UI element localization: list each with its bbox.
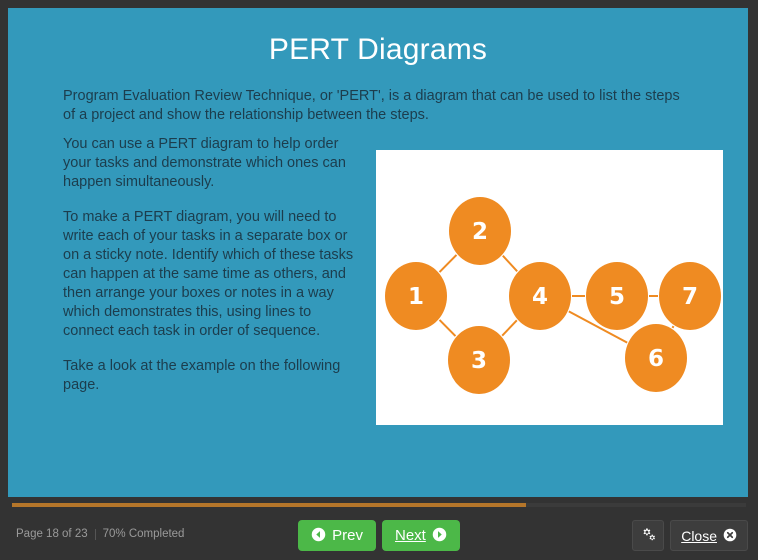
player-controls: Close [632, 520, 748, 551]
progress-bar-fill [12, 503, 526, 507]
prev-button-label: Prev [332, 528, 363, 543]
pert-node-label-3: 3 [471, 348, 487, 374]
progress-bar-track [12, 503, 746, 507]
intro-paragraph: Program Evaluation Review Technique, or … [63, 87, 693, 125]
arrow-left-circle-icon [311, 527, 326, 545]
pert-node-5: 5 [586, 262, 648, 330]
pert-node-label-5: 5 [609, 284, 625, 310]
pert-diagram-svg: 1234567 [376, 150, 723, 425]
arrow-right-circle-icon [432, 527, 447, 545]
gears-icon [640, 527, 657, 545]
pert-node-6: 6 [625, 324, 687, 392]
pert-node-4: 4 [509, 262, 571, 330]
close-button-label: Close [681, 529, 717, 543]
pert-node-1: 1 [385, 262, 447, 330]
pert-edge-3-4 [502, 320, 517, 335]
pert-node-3: 3 [448, 326, 510, 394]
pert-edge-6-7 [673, 326, 674, 328]
pert-node-label-1: 1 [408, 284, 424, 310]
pert-edge-1-3 [440, 320, 456, 336]
slide-panel: PERT Diagrams Program Evaluation Review … [8, 8, 748, 497]
close-circle-icon [723, 528, 737, 544]
pert-diagram-image: 1234567 [376, 150, 723, 425]
pert-node-layer: 1234567 [385, 197, 721, 394]
pert-edge-2-4 [503, 256, 517, 272]
prev-button[interactable]: Prev [298, 520, 376, 551]
body-paragraph-3: Take a look at the example on the follow… [63, 357, 363, 395]
player-footer: Page 18 of 23 70% Completed Prev Next [0, 512, 758, 560]
next-button[interactable]: Next [382, 520, 460, 551]
pert-node-2: 2 [449, 197, 511, 265]
pert-node-label-7: 7 [682, 284, 698, 310]
body-text-column: You can use a PERT diagram to help order… [63, 135, 363, 395]
pert-node-label-2: 2 [472, 219, 488, 245]
next-button-label: Next [395, 528, 426, 543]
settings-button[interactable] [632, 520, 664, 551]
body-paragraph-2: To make a PERT diagram, you will need to… [63, 208, 363, 341]
player-window: PERT Diagrams Program Evaluation Review … [0, 0, 758, 560]
pert-node-label-6: 6 [648, 346, 664, 372]
close-button[interactable]: Close [670, 520, 748, 551]
pert-node-label-4: 4 [532, 284, 548, 310]
pert-edge-1-2 [440, 255, 457, 272]
page-title: PERT Diagrams [8, 32, 748, 68]
pert-node-7: 7 [659, 262, 721, 330]
body-paragraph-1: You can use a PERT diagram to help order… [63, 135, 363, 192]
